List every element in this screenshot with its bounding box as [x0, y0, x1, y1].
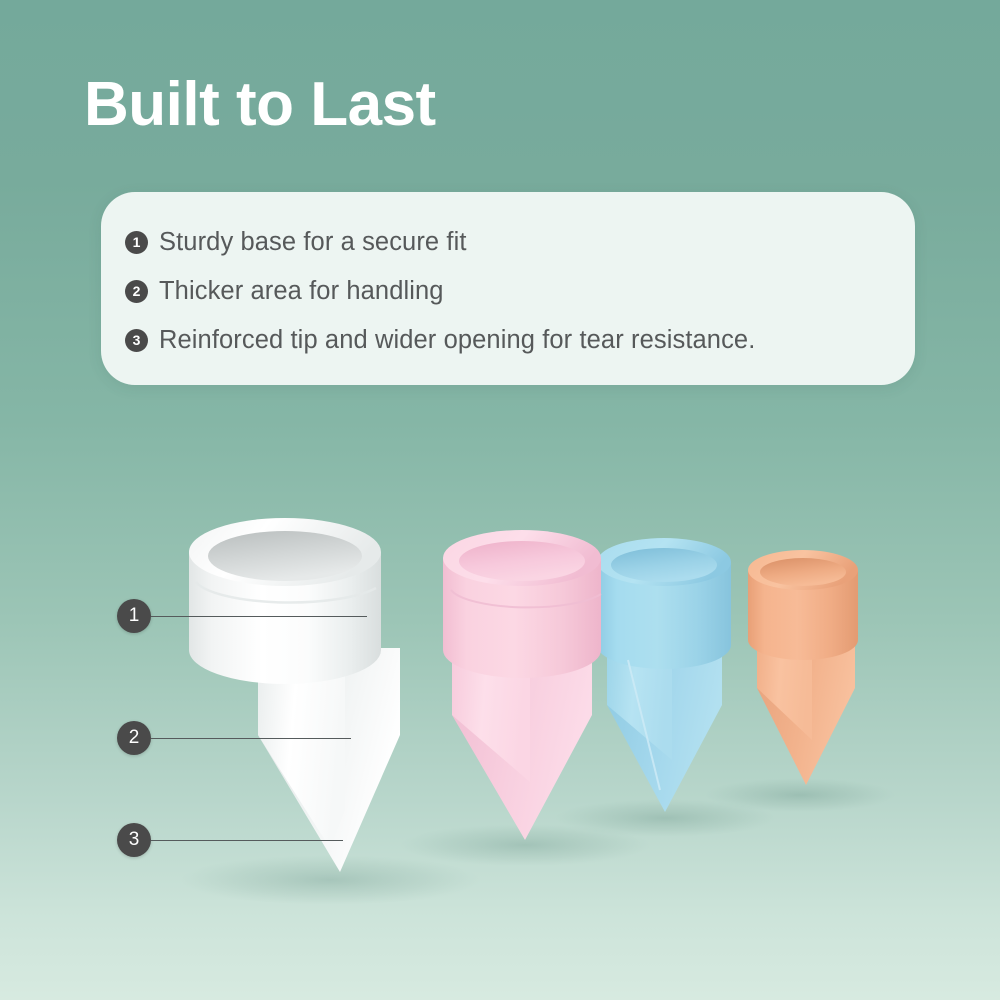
- callout-2: 2: [117, 721, 351, 755]
- shadow-pink: [400, 824, 650, 866]
- feature-list-item-1: 1 Sturdy base for a secure fit: [125, 218, 897, 267]
- callout-line-3: [151, 840, 343, 841]
- feature-list-item-2: 2 Thicker area for handling: [125, 267, 897, 316]
- product-orange: [748, 550, 858, 785]
- feature-card: 1 Sturdy base for a secure fit 2 Thicker…: [101, 192, 915, 385]
- callout-1: 1: [117, 599, 367, 633]
- feature-text-3: Reinforced tip and wider opening for tea…: [159, 326, 755, 355]
- callout-badge-3: 3: [117, 823, 151, 857]
- product-blue: [597, 538, 731, 812]
- product-feature-graphic: Built to Last 1 Sturdy base for a secure…: [0, 0, 1000, 1000]
- product-pink: [443, 530, 601, 840]
- shadow-white: [180, 855, 480, 905]
- shadow-blue: [555, 799, 775, 837]
- page-title: Built to Last: [84, 72, 436, 137]
- callout-3: 3: [117, 823, 343, 857]
- callout-line-1: [151, 616, 367, 617]
- feature-text-2: Thicker area for handling: [159, 277, 444, 306]
- callout-badge-2: 2: [117, 721, 151, 755]
- callout-line-2: [151, 738, 351, 739]
- feature-badge-3: 3: [125, 329, 148, 352]
- shadow-orange: [705, 778, 895, 812]
- feature-badge-2: 2: [125, 280, 148, 303]
- product-white: [189, 518, 400, 872]
- feature-list: 1 Sturdy base for a secure fit 2 Thicker…: [125, 218, 897, 365]
- feature-badge-1: 1: [125, 231, 148, 254]
- callout-badge-1: 1: [117, 599, 151, 633]
- feature-text-1: Sturdy base for a secure fit: [159, 228, 467, 257]
- feature-list-item-3: 3 Reinforced tip and wider opening for t…: [125, 316, 897, 365]
